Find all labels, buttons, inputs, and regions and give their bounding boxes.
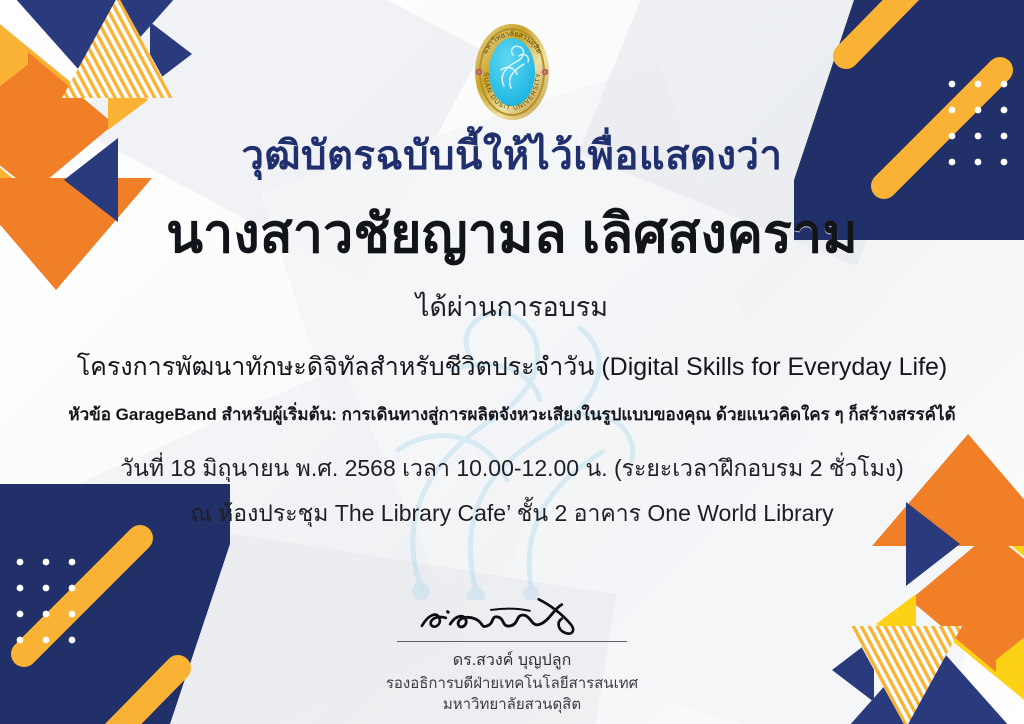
certificate-page: มหาวิทยาลัยสวนดุสิต SUAN DUSIT UNIVERSIT…: [0, 0, 1024, 724]
signer-name: ดร.สวงค์ บุญปลูก: [342, 649, 682, 672]
completion-statement: ได้ผ่านการอบรม: [0, 285, 1024, 328]
striped-triangle: [846, 620, 966, 724]
signer-title: รองอธิการบดีฝ่ายเทคโนโลยีสารสนเทศ: [342, 673, 682, 695]
certificate-content: วุฒิบัตรฉบับนี้ให้ไว้เพื่อแสดงว่า นางสาว…: [0, 132, 1024, 532]
handwritten-signature-icon: [406, 594, 618, 640]
certificate-title: วุฒิบัตรฉบับนี้ให้ไว้เพื่อแสดงว่า: [0, 132, 1024, 180]
topic-name: หัวข้อ GarageBand สำหรับผู้เริ่มต้น: การ…: [0, 401, 1024, 428]
venue-line: ณ ห้องประชุม The Library Cafe’ ชั้น 2 อา…: [0, 496, 1024, 532]
university-seal-icon: มหาวิทยาลัยสวนดุสิต SUAN DUSIT UNIVERSIT…: [464, 16, 560, 128]
signer-organization: มหาวิทยาลัยสวนดุสิต: [342, 694, 682, 716]
program-name: โครงการพัฒนาทักษะดิจิทัลสำหรับชีวิตประจำ…: [0, 347, 1024, 387]
signature-block: ดร.สวงค์ บุญปลูก รองอธิการบดีฝ่ายเทคโนโล…: [342, 594, 682, 716]
recipient-name: นางสาวชัยญามล เลิศสงคราม: [0, 202, 1024, 267]
signature-rule: [397, 641, 627, 642]
striped-triangle: [58, 0, 178, 104]
date-time-line: วันที่ 18 มิถุนายน พ.ศ. 2568 เวลา 10.00-…: [0, 451, 1024, 487]
